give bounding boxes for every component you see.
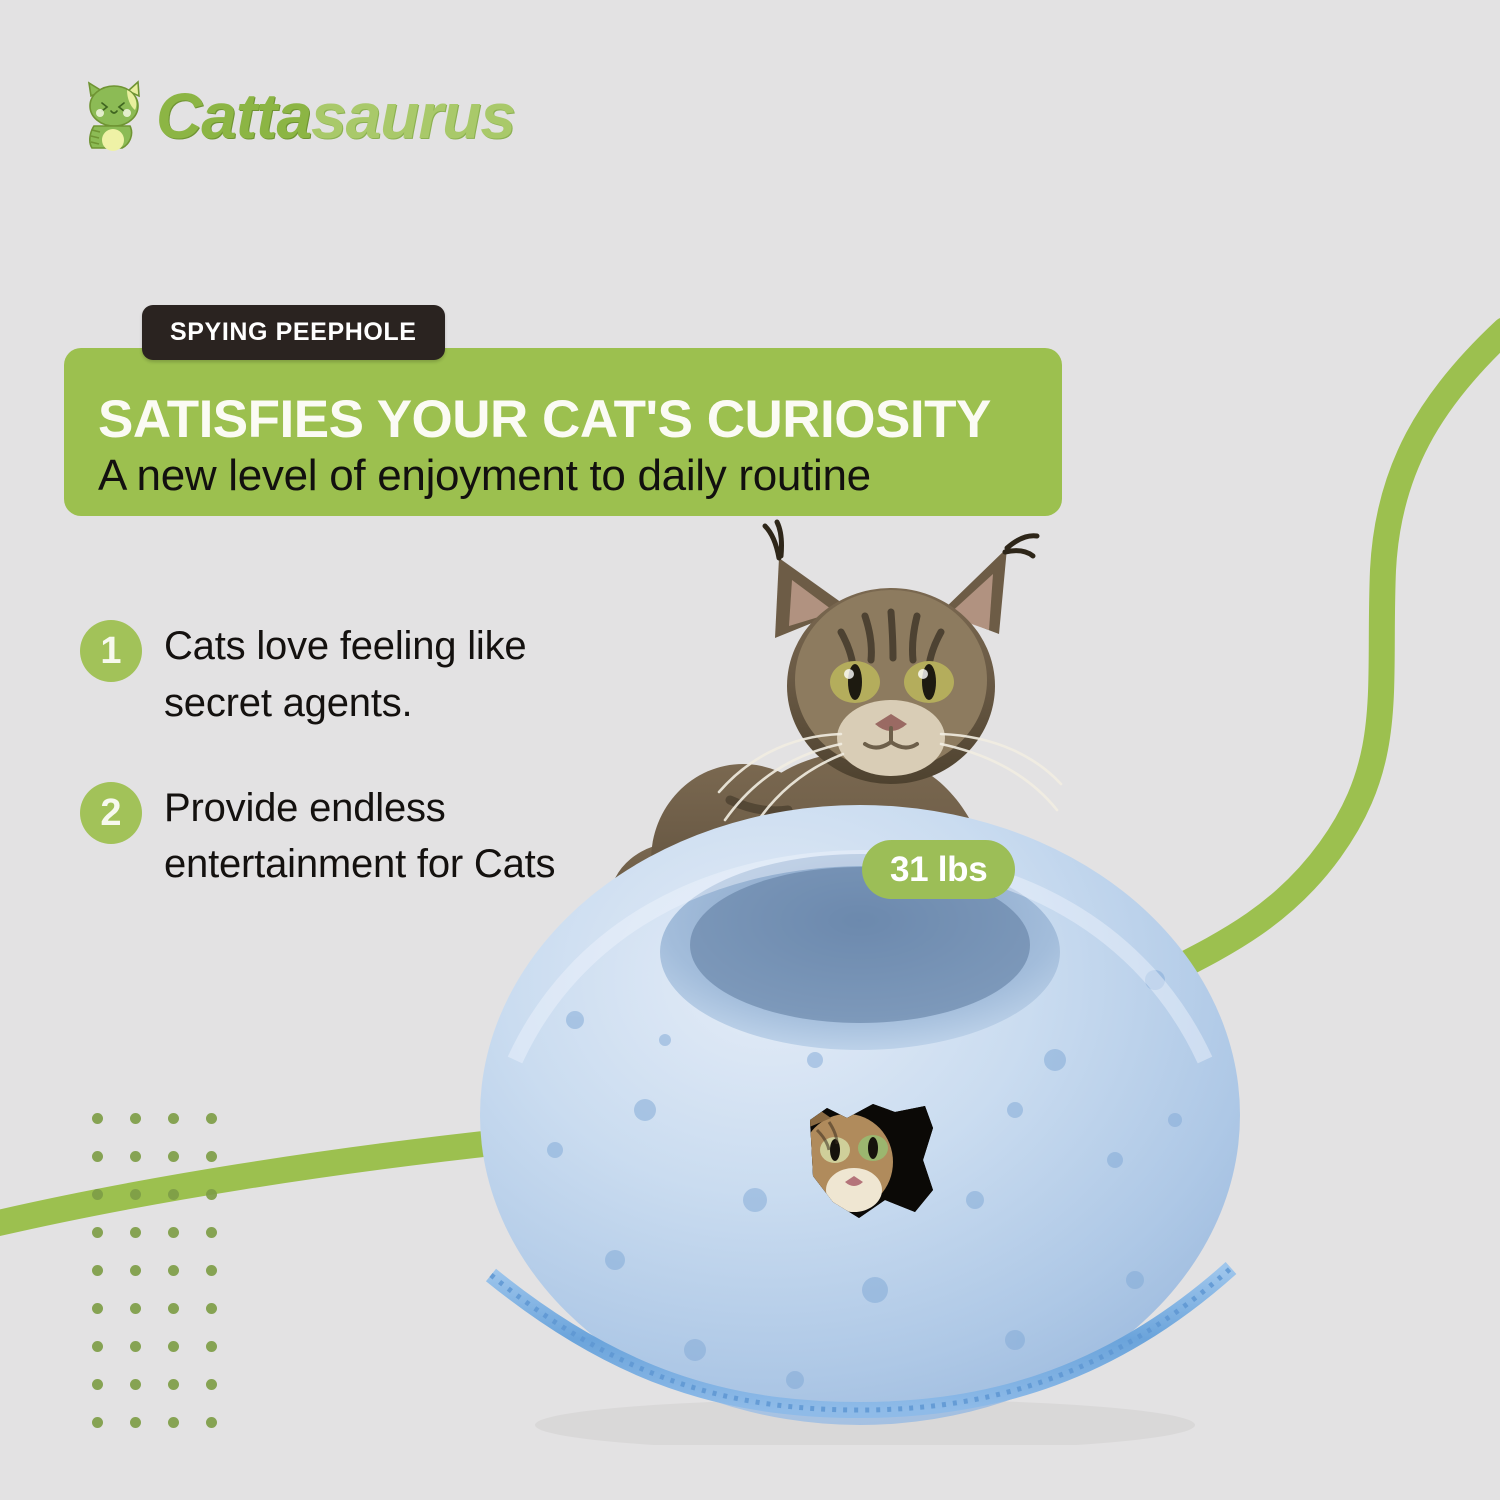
logo-text-bold: Catta: [156, 80, 311, 152]
cat-mascot-icon: [78, 78, 150, 154]
product-image: [455, 500, 1275, 1445]
cat-donut-bed-illustration: [455, 500, 1275, 1445]
logo-text-light: saurus: [311, 80, 515, 152]
eyebrow-badge: SPYING PEEPHOLE: [142, 305, 445, 360]
feature-number-badge: 1: [80, 620, 142, 682]
feature-number-badge: 2: [80, 782, 142, 844]
weight-badge: 31 lbs: [862, 840, 1015, 899]
dot-grid-pattern: [92, 1100, 244, 1442]
page-subtitle: A new level of enjoyment to daily routin…: [98, 452, 1062, 500]
product-infographic: Cattasaurus SPYING PEEPHOLE SATISFIES YO…: [0, 0, 1500, 1500]
brand-logo: Cattasaurus: [78, 78, 515, 154]
headline-text-group: SATISFIES YOUR CAT'S CURIOSITY A new lev…: [64, 348, 1062, 516]
page-title: SATISFIES YOUR CAT'S CURIOSITY: [98, 393, 1062, 447]
